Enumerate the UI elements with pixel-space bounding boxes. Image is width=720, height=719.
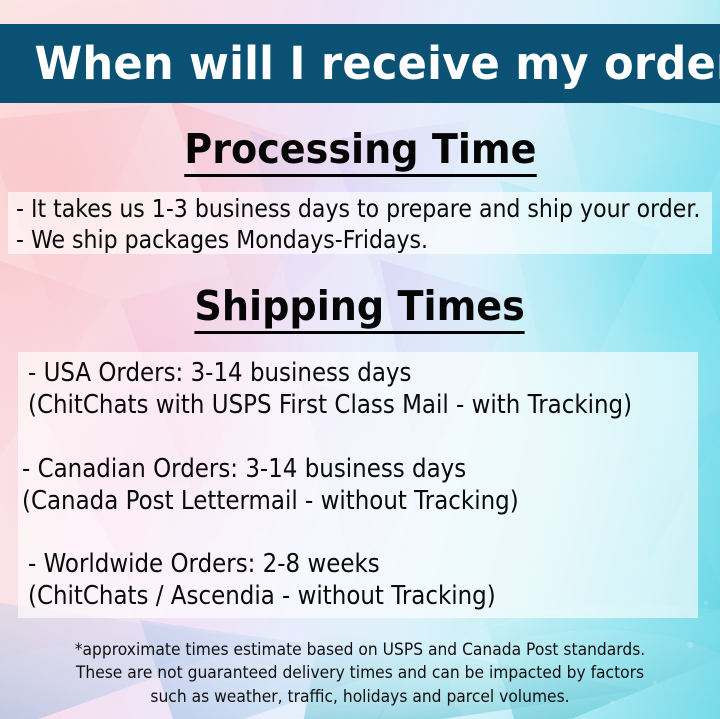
processing-time-line-2: - We ship packages Mondays-Fridays. bbox=[16, 228, 428, 253]
section-heading-processing-time-text: Processing Time bbox=[184, 129, 536, 177]
shipping-entry-worldwide-line-2: (ChitChats / Ascendia - without Tracking… bbox=[28, 580, 496, 612]
shipping-entry-worldwide-line-1: - Worldwide Orders: 2-8 weeks bbox=[28, 548, 496, 580]
section-heading-shipping-times: Shipping Times bbox=[0, 286, 720, 334]
page-title: When will I receive my order? bbox=[0, 41, 720, 86]
shipping-entry-usa-line-2: (ChitChats with USPS First Class Mail - … bbox=[28, 389, 632, 421]
infographic-canvas: When will I receive my order? Processing… bbox=[0, 0, 720, 719]
shipping-entry-canada-line-1: - Canadian Orders: 3-14 business days bbox=[22, 453, 519, 485]
footnote-line-1: *approximate times estimate based on USP… bbox=[22, 638, 699, 661]
shipping-entry-worldwide: - Worldwide Orders: 2-8 weeks (ChitChats… bbox=[28, 548, 548, 612]
header-band: When will I receive my order? bbox=[0, 24, 720, 103]
section-heading-shipping-times-text: Shipping Times bbox=[195, 286, 525, 334]
section-heading-processing-time: Processing Time bbox=[0, 129, 720, 177]
shipping-entry-usa: - USA Orders: 3-14 business days (ChitCh… bbox=[28, 357, 699, 421]
footnote-line-2: These are not guaranteed delivery times … bbox=[22, 661, 699, 684]
footnote-line-3: such as weather, traffic, holidays and p… bbox=[22, 685, 699, 708]
shipping-entry-canada: - Canadian Orders: 3-14 business days (C… bbox=[22, 453, 574, 517]
shipping-entry-usa-line-1: - USA Orders: 3-14 business days bbox=[28, 357, 632, 389]
shipping-entry-canada-line-2: (Canada Post Lettermail - without Tracki… bbox=[22, 485, 519, 517]
footnote: *approximate times estimate based on USP… bbox=[0, 638, 720, 708]
processing-time-line-1: - It takes us 1-3 business days to prepa… bbox=[16, 197, 700, 222]
